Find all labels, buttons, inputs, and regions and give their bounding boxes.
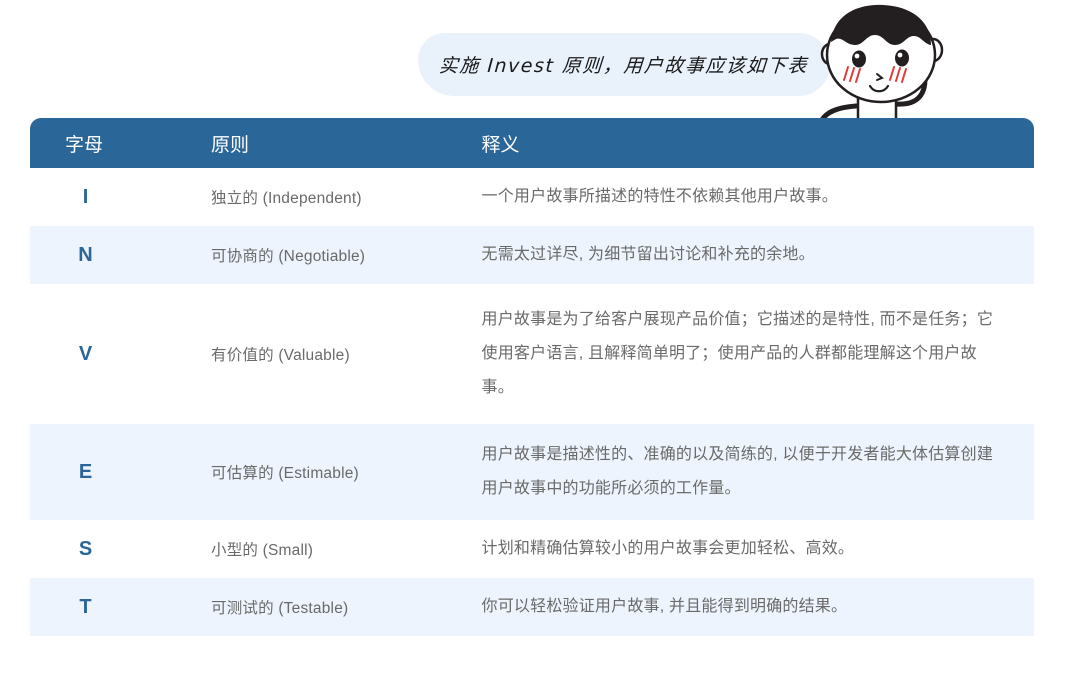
mascot-left-eye-glint bbox=[855, 54, 860, 59]
mascot-right-eye bbox=[895, 50, 909, 67]
mascot-right-hand bbox=[915, 53, 927, 67]
row-letter: E bbox=[30, 424, 169, 520]
row-principle: 小型的 (Small) bbox=[169, 520, 450, 578]
table-row: N可协商的 (Negotiable)无需太过详尽, 为细节留出讨论和补充的余地。 bbox=[30, 226, 1034, 284]
row-principle: 有价值的 (Valuable) bbox=[169, 284, 450, 424]
row-principle: 可测试的 (Testable) bbox=[169, 578, 450, 636]
row-principle: 独立的 (Independent) bbox=[169, 168, 450, 226]
invest-principles-table: 字母 原则 释义 I独立的 (Independent)一个用户故事所描述的特性不… bbox=[30, 118, 1034, 636]
column-header-meaning: 释义 bbox=[450, 118, 1034, 168]
row-description: 用户故事是描述性的、准确的以及简练的, 以便于开发者能大体估算创建用户故事中的功… bbox=[450, 424, 1034, 520]
row-description: 一个用户故事所描述的特性不依赖其他用户故事。 bbox=[450, 168, 1034, 226]
column-header-principle-label: 原则 bbox=[211, 130, 450, 157]
column-header-letter-label: 字母 bbox=[65, 130, 169, 157]
row-letter: S bbox=[30, 520, 169, 578]
mascot-head bbox=[827, 8, 935, 102]
row-description: 计划和精确估算较小的用户故事会更加轻松、高效。 bbox=[450, 520, 1034, 578]
table-row: I独立的 (Independent)一个用户故事所描述的特性不依赖其他用户故事。 bbox=[30, 168, 1034, 226]
speech-bubble: 实施 Invest 原则，用户故事应该如下表 bbox=[418, 33, 830, 96]
mascot-hair bbox=[831, 5, 931, 45]
row-letter: T bbox=[30, 578, 169, 636]
table-row: V有价值的 (Valuable)用户故事是为了给客户展现产品价值；它描述的是特性… bbox=[30, 284, 1034, 424]
row-principle: 可估算的 (Estimable) bbox=[169, 424, 450, 520]
row-description: 用户故事是为了给客户展现产品价值；它描述的是特性, 而不是任务；它使用客户语言,… bbox=[450, 284, 1034, 424]
table-row: E可估算的 (Estimable)用户故事是描述性的、准确的以及简练的, 以便于… bbox=[30, 424, 1034, 520]
mascot-mouth bbox=[870, 86, 888, 91]
row-letter: I bbox=[30, 168, 169, 226]
mascot-right-eye-glint bbox=[898, 53, 903, 58]
mascot-left-blush bbox=[844, 67, 860, 82]
table-row: S小型的 (Small)计划和精确估算较小的用户故事会更加轻松、高效。 bbox=[30, 520, 1034, 578]
speech-bubble-text: 实施 Invest 原则，用户故事应该如下表 bbox=[439, 51, 810, 78]
column-header-meaning-label: 释义 bbox=[482, 130, 1034, 157]
column-header-letter: 字母 bbox=[30, 118, 169, 168]
mascot-left-eye bbox=[852, 51, 866, 68]
table-header-row: 字母 原则 释义 bbox=[30, 118, 1034, 168]
table-row: T可测试的 (Testable)你可以轻松验证用户故事, 并且能得到明确的结果。 bbox=[30, 578, 1034, 636]
table-body: I独立的 (Independent)一个用户故事所描述的特性不依赖其他用户故事。… bbox=[30, 168, 1034, 636]
row-description: 你可以轻松验证用户故事, 并且能得到明确的结果。 bbox=[450, 578, 1034, 636]
row-letter: N bbox=[30, 226, 169, 284]
mascot-right-blush bbox=[890, 67, 906, 82]
mascot-right-arm bbox=[896, 64, 925, 104]
row-principle: 可协商的 (Negotiable) bbox=[169, 226, 450, 284]
column-header-principle: 原则 bbox=[169, 118, 450, 168]
mascot-right-ear bbox=[924, 39, 942, 61]
table-header: 字母 原则 释义 bbox=[30, 118, 1034, 168]
row-description: 无需太过详尽, 为细节留出讨论和补充的余地。 bbox=[450, 226, 1034, 284]
row-letter: V bbox=[30, 284, 169, 424]
mascot-nose bbox=[877, 74, 882, 80]
